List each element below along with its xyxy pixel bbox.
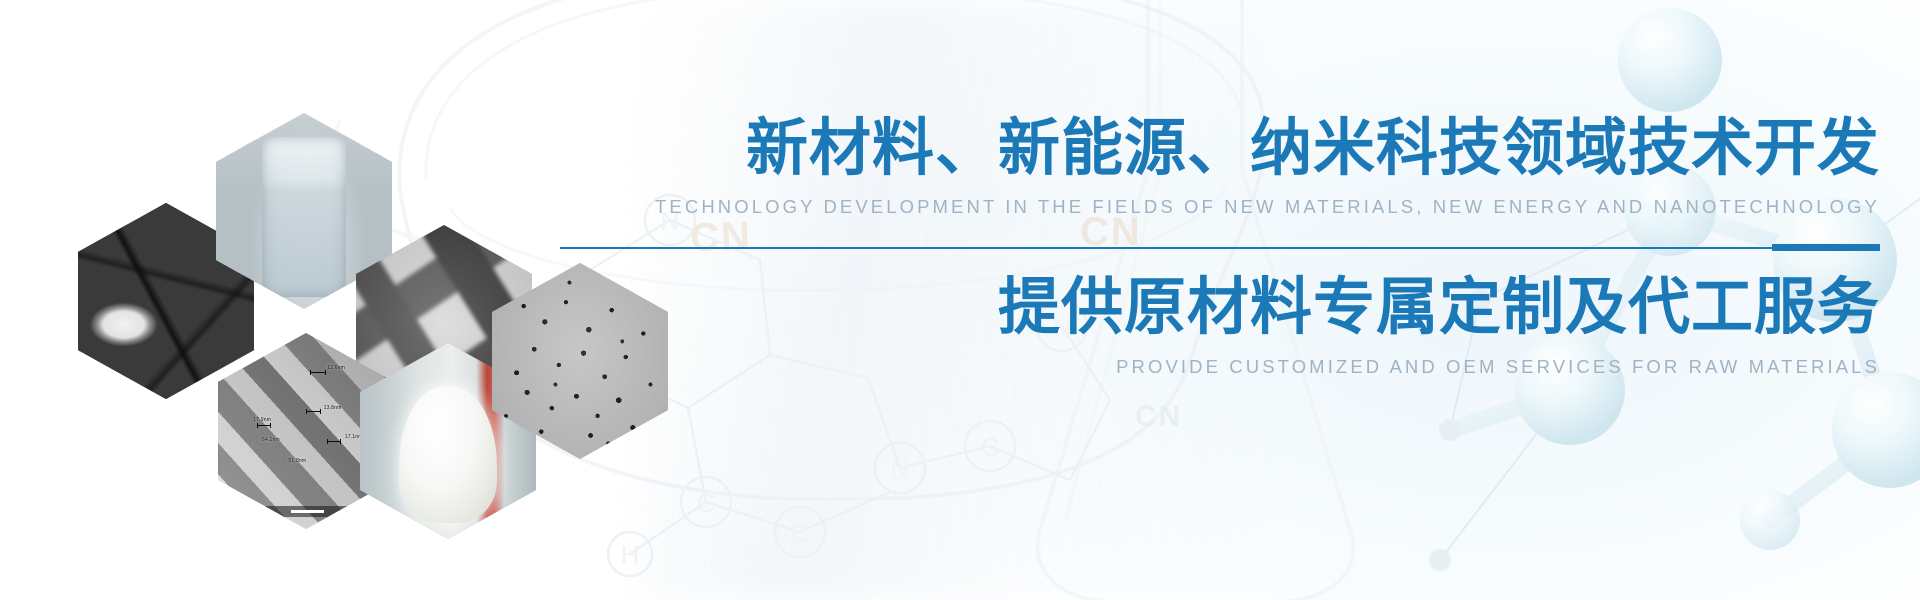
subtitle-secondary: PROVIDE CUSTOMIZED AND OEM SERVICES FOR … bbox=[560, 356, 1880, 378]
sem-scale-bar bbox=[243, 506, 370, 517]
subtitle-primary: TECHNOLOGY DEVELOPMENT IN THE FIELDS OF … bbox=[560, 196, 1880, 218]
cn-watermark: CN bbox=[1135, 400, 1182, 434]
measure-label: 12.6nm bbox=[327, 365, 345, 371]
chem-atom-label: C bbox=[791, 518, 810, 548]
measure-label: 17.1nm bbox=[345, 434, 363, 440]
measure-label: 13.8nm bbox=[324, 405, 342, 411]
banner-copy: 新材料、新能源、纳米科技领域技术开发 TECHNOLOGY DEVELOPMEN… bbox=[560, 118, 1880, 378]
measure-bar bbox=[327, 441, 341, 442]
chem-atom-label: C bbox=[981, 432, 1000, 462]
hero-banner: N C N C N H C N CN CN CN bbox=[0, 0, 1920, 600]
measure-label: 51.8nm bbox=[288, 458, 306, 464]
headline-secondary: 提供原材料专属定制及代工服务 bbox=[560, 277, 1880, 339]
chem-atom-label: N bbox=[891, 454, 910, 484]
measure-bar bbox=[257, 425, 271, 426]
measure-bar bbox=[306, 411, 321, 412]
divider-thin-line bbox=[560, 247, 1772, 249]
headline-primary: 新材料、新能源、纳米科技领域技术开发 bbox=[560, 118, 1880, 180]
measure-bar bbox=[310, 372, 326, 373]
measure-label: 64.1nm bbox=[262, 437, 280, 443]
measure-label: 17.9nm bbox=[253, 417, 271, 423]
divider-rule bbox=[560, 244, 1880, 251]
divider-thick-cap bbox=[1772, 244, 1880, 251]
